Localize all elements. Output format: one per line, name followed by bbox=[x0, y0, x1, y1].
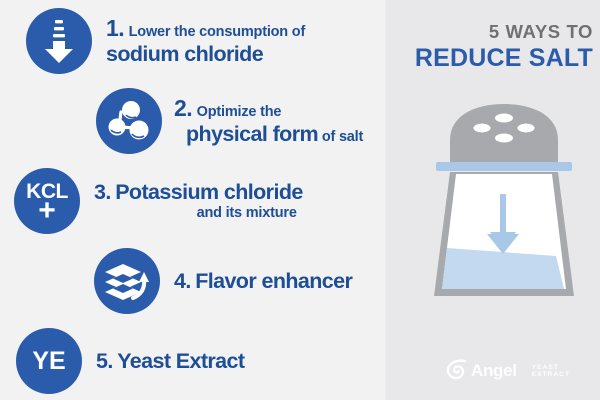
step-4-number: 4. bbox=[174, 269, 191, 293]
step-1-number: 1. bbox=[106, 15, 124, 41]
step-5-line1: Yeast Extract bbox=[117, 349, 244, 373]
down-arrow-reduce-icon bbox=[38, 16, 80, 66]
brand-logo: Angel YEAST EXTRACT bbox=[446, 358, 566, 384]
list-item: 4. Flavor enhancer bbox=[94, 248, 352, 314]
step-4-badge bbox=[94, 248, 160, 314]
step-2-line1: Optimize the bbox=[197, 104, 282, 120]
step-1-line2: sodium chloride bbox=[106, 42, 263, 66]
step-5-number: 5. bbox=[96, 349, 113, 373]
step-3-badge: KCL + bbox=[14, 168, 80, 234]
step-4-text: 4. Flavor enhancer bbox=[174, 269, 352, 293]
step-5-badge: YE bbox=[16, 328, 82, 394]
list-item: 1. Lower the consumption of sodium chlor… bbox=[26, 8, 305, 74]
step-5-text: 5. Yeast Extract bbox=[96, 349, 244, 373]
salt-shaker-illustration bbox=[424, 96, 584, 308]
step-3-line1: Potassium chloride bbox=[115, 180, 303, 204]
page-title: 5 WAYS TO REDUCE SALT bbox=[408, 20, 593, 73]
step-2-line2: physical form bbox=[186, 122, 318, 146]
step-3-line2: and its mixture bbox=[197, 205, 297, 221]
step-2-badge bbox=[96, 88, 162, 154]
brand-tagline: YEAST EXTRACT bbox=[532, 364, 570, 378]
step-3-text: 3. Potassium chloride and its mixture bbox=[94, 180, 303, 222]
plus-icon: + bbox=[14, 196, 80, 226]
layers-enhance-icon bbox=[103, 260, 151, 302]
brand-name: Angel bbox=[471, 361, 517, 381]
step-3-number: 3. bbox=[94, 180, 111, 204]
list-item: KCL + 3. Potassium chloride and its mixt… bbox=[14, 168, 303, 234]
step-2-line2-suffix: of salt bbox=[318, 129, 363, 145]
step-4-line1: Flavor enhancer bbox=[195, 269, 352, 293]
step-2-number: 2. bbox=[174, 95, 192, 121]
step-1-badge bbox=[26, 8, 92, 74]
molecule-icon bbox=[106, 100, 152, 142]
shaker-band bbox=[436, 162, 572, 171]
title-main-line: REDUCE SALT bbox=[408, 43, 593, 73]
title-top-line: 5 WAYS TO bbox=[408, 20, 593, 43]
step-1-line1: Lower the consumption of bbox=[129, 24, 305, 40]
ye-icon: YE bbox=[32, 349, 65, 374]
angel-spiral-icon bbox=[446, 358, 468, 385]
list-item: YE 5. Yeast Extract bbox=[16, 328, 244, 394]
infographic-poster: 1. Lower the consumption of sodium chlor… bbox=[0, 0, 600, 400]
steps-list: 1. Lower the consumption of sodium chlor… bbox=[0, 0, 386, 400]
step-1-text: 1. Lower the consumption of sodium chlor… bbox=[106, 16, 305, 66]
list-item: 2. Optimize the physical form of salt bbox=[96, 88, 363, 154]
kcl-icon: KCL + bbox=[14, 168, 80, 234]
step-2-text: 2. Optimize the physical form of salt bbox=[174, 96, 363, 146]
